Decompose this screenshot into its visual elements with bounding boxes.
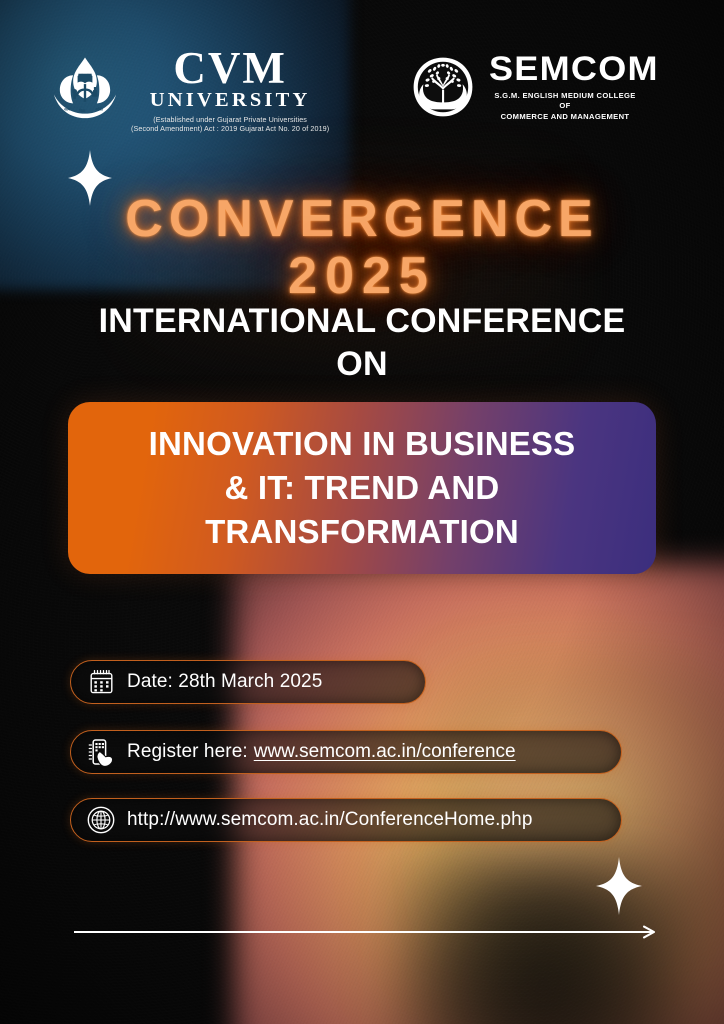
semcom-name: SEMCOM (489, 52, 659, 86)
register-link[interactable]: www.semcom.ac.in/conference (254, 741, 516, 763)
cvm-name-line2: UNIVERSITY (150, 90, 311, 112)
arrow-right-icon (74, 924, 659, 940)
cvm-university-logo: सत्य विद्या शक्ति CVM UNIVERSITY (Establ… (48, 48, 329, 133)
conference-label-line1: INTERNATIONAL CONFERENCE (0, 300, 724, 343)
semcom-wordmark: SEMCOM S.G.M. ENGLISH MEDIUM COLLEGE OF … (489, 52, 649, 122)
semcom-logo: SEMCOM S.G.M. ENGLISH MEDIUM COLLEGE OF … (408, 52, 649, 122)
semcom-tagline-line2: COMMERCE AND MANAGEMENT (489, 112, 641, 122)
event-year: 2025 (0, 249, 724, 304)
date-pill: Date: 28th March 2025 (70, 660, 426, 704)
conference-theme-text: INNOVATION IN BUSINESS & IT: TREND AND T… (135, 422, 590, 554)
cvm-fine-print-line1: (Established under Gujarat Private Unive… (131, 115, 329, 124)
theme-line3: TRANSFORMATION (149, 510, 576, 554)
poster-header: सत्य विद्या शक्ति CVM UNIVERSITY (Establ… (0, 44, 724, 144)
svg-text:विद्या: विद्या (78, 109, 86, 114)
cvm-fine-print-line2: (Second Amendment) Act : 2019 Gujarat Ac… (131, 124, 329, 133)
svg-text:शक्ति: शक्ति (95, 107, 103, 112)
event-name: CONVERGENCE (125, 190, 598, 248)
globe-icon (87, 806, 115, 834)
cvm-wordmark: CVM UNIVERSITY (Established under Gujara… (131, 48, 329, 133)
sparkle-star-icon-bottom (596, 857, 642, 915)
calendar-icon (87, 668, 115, 696)
register-label: Register here: (127, 741, 248, 763)
event-title: CONVERGENCE 2025 (0, 192, 724, 303)
theme-line2: & IT: TREND AND (149, 466, 576, 510)
semcom-tagline-line1: S.G.M. ENGLISH MEDIUM COLLEGE OF (489, 91, 641, 112)
website-pill[interactable]: http://www.semcom.ac.in/ConferenceHome.p… (70, 798, 622, 842)
mobile-tap-icon (87, 738, 115, 766)
register-pill[interactable]: Register here: www.semcom.ac.in/conferen… (70, 730, 622, 774)
cvm-fine-print: (Established under Gujarat Private Unive… (131, 115, 329, 133)
conference-label: INTERNATIONAL CONFERENCE ON (0, 300, 724, 385)
cvm-name-line1: CVM (173, 48, 286, 89)
svg-text:सत्य: सत्य (63, 108, 71, 112)
theme-line1: INNOVATION IN BUSINESS (149, 422, 576, 466)
conference-poster: सत्य विद्या शक्ति CVM UNIVERSITY (Establ… (0, 0, 724, 1024)
conference-label-line2: ON (0, 343, 724, 386)
cvm-lotus-emblem-icon: सत्य विद्या शक्ति (48, 53, 122, 127)
semcom-tree-in-hands-emblem-icon (408, 52, 478, 122)
semcom-tagline: S.G.M. ENGLISH MEDIUM COLLEGE OF COMMERC… (489, 91, 641, 122)
website-url[interactable]: http://www.semcom.ac.in/ConferenceHome.p… (127, 809, 533, 831)
conference-theme-banner: INNOVATION IN BUSINESS & IT: TREND AND T… (68, 402, 656, 574)
date-text: Date: 28th March 2025 (127, 671, 322, 693)
